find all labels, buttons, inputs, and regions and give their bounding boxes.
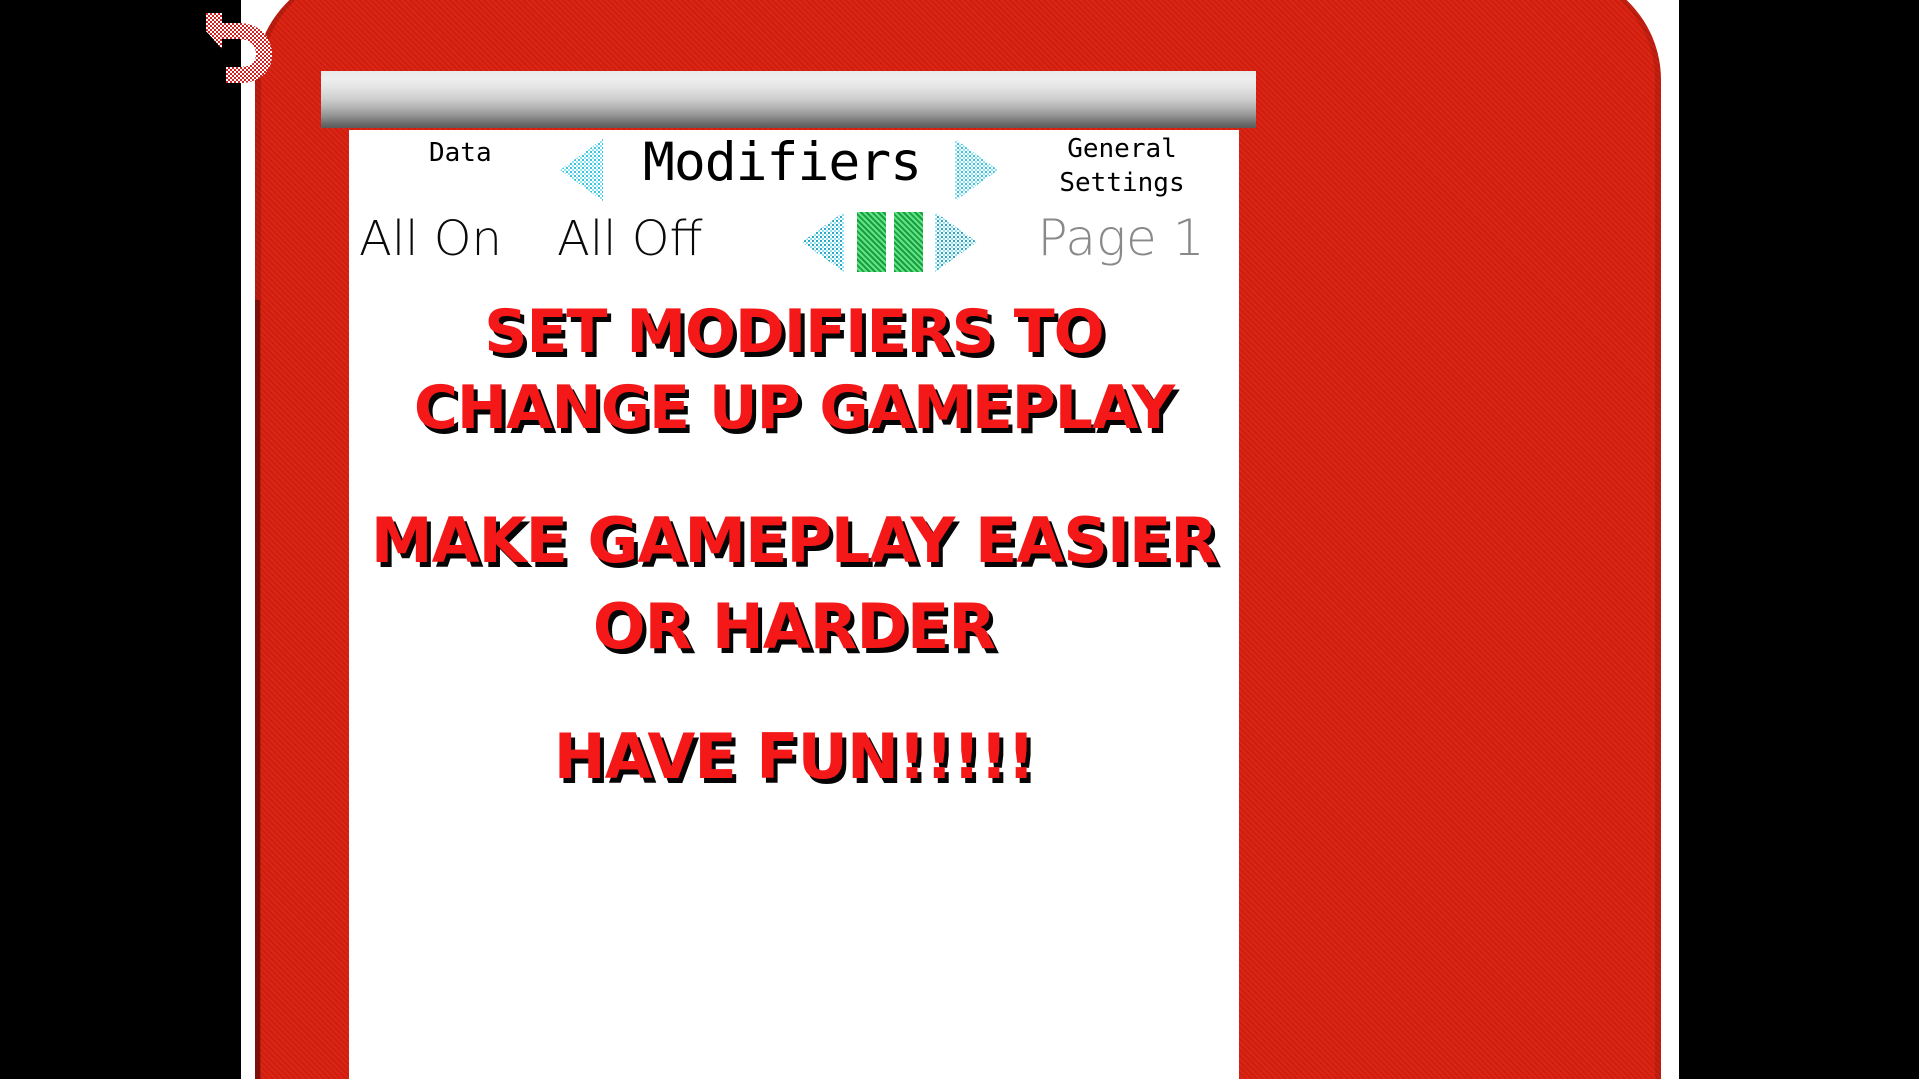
- message-line: SET MODIFIERS TO: [349, 294, 1239, 370]
- triangle-left-icon[interactable]: [800, 212, 846, 272]
- all-on-button[interactable]: All On: [359, 208, 502, 270]
- screen-header-row: Data: [349, 130, 1239, 204]
- message-line: MAKE GAMEPLAY EASIER: [349, 498, 1239, 584]
- nav-general-settings-label[interactable]: General Settings: [1017, 132, 1227, 200]
- page-bar: [894, 212, 923, 272]
- page-bar: [857, 212, 886, 272]
- back-undo-arrow-icon[interactable]: [196, 3, 280, 87]
- message-block-1: SET MODIFIERS TO CHANGE UP GAMEPLAY: [349, 294, 1239, 446]
- message-line: CHANGE UP GAMEPLAY: [349, 370, 1239, 446]
- message-block-3: HAVE FUN!!!!!: [349, 714, 1239, 800]
- screen-controls-row: All On All Off: [349, 204, 1239, 280]
- page-progress-bars: [857, 212, 923, 272]
- chevron-left-icon[interactable]: [558, 139, 605, 201]
- message-spacer: [349, 670, 1239, 714]
- message-line: HAVE FUN!!!!!: [349, 714, 1239, 800]
- nav-data-label[interactable]: Data: [429, 138, 492, 168]
- device-edge-shadow: [255, 300, 260, 1079]
- message-block-2: MAKE GAMEPLAY EASIER OR HARDER: [349, 498, 1239, 670]
- message-line: OR HARDER: [349, 584, 1239, 670]
- triangle-right-icon[interactable]: [933, 212, 979, 272]
- general-settings-line2: Settings: [1059, 168, 1184, 198]
- letterbox-left: [0, 0, 241, 1079]
- chevron-right-icon[interactable]: [953, 139, 1000, 201]
- letterbox-right: [1679, 0, 1919, 1079]
- screenshot-stage: Data: [0, 0, 1919, 1079]
- lcd-screen: Data: [349, 130, 1239, 1079]
- page-indicator-label: Page 1: [1009, 206, 1233, 270]
- general-settings-line1: General: [1067, 134, 1177, 164]
- all-off-button[interactable]: All Off: [557, 208, 703, 270]
- message-spacer: [349, 446, 1239, 498]
- speaker-grill-bar: [321, 71, 1256, 128]
- instruction-message-area: SET MODIFIERS TO CHANGE UP GAMEPLAY MAKE…: [349, 280, 1239, 800]
- page-title: Modifiers: [617, 132, 947, 194]
